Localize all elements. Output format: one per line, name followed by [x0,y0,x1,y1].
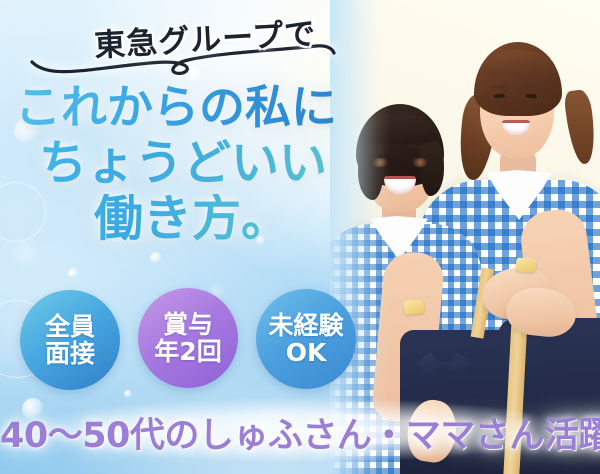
headline: これからの私に ちょうどいい 働き方。 [0,84,348,243]
staff-photo [330,0,600,474]
name-pin-icon [403,299,424,315]
badge-line-2: 面接 [45,340,95,367]
feature-badges: 全員 面接 賞与 年2回 未経験 OK [20,288,360,392]
footer-tagline: 40〜50代のしゅふさん・ママさん活躍中 [0,407,600,458]
headline-line-3: 働き方。 [36,194,348,243]
badge-line-1: 賞与 [163,311,213,338]
headline-line-2: ちょうどいい [18,139,348,187]
eyebrow-line: 東急グループで [60,10,350,62]
badge-line-2: 年2回 [154,338,221,365]
name-pin-icon [516,257,537,272]
eyebrow-text: 東急グループで [93,7,317,64]
recruitment-banner: 東急グループで これからの私に ちょうどいい 働き方。 全員 面接 賞与 年2回… [0,0,600,474]
hair-ponytail-right [563,89,599,166]
badge-zenin-mensetsu[interactable]: 全員 面接 [20,290,120,390]
badge-mikeiken-ok[interactable]: 未経験 OK [256,289,356,389]
badge-shoyo-nen2kai[interactable]: 賞与 年2回 [138,288,238,388]
badge-line-1: 全員 [45,313,95,340]
blush-right [410,158,430,167]
headline-line-1: これからの私に [4,84,348,130]
eye-right [526,94,537,99]
badge-line-2: OK [286,339,327,366]
badge-line-1: 未経験 [268,312,343,339]
